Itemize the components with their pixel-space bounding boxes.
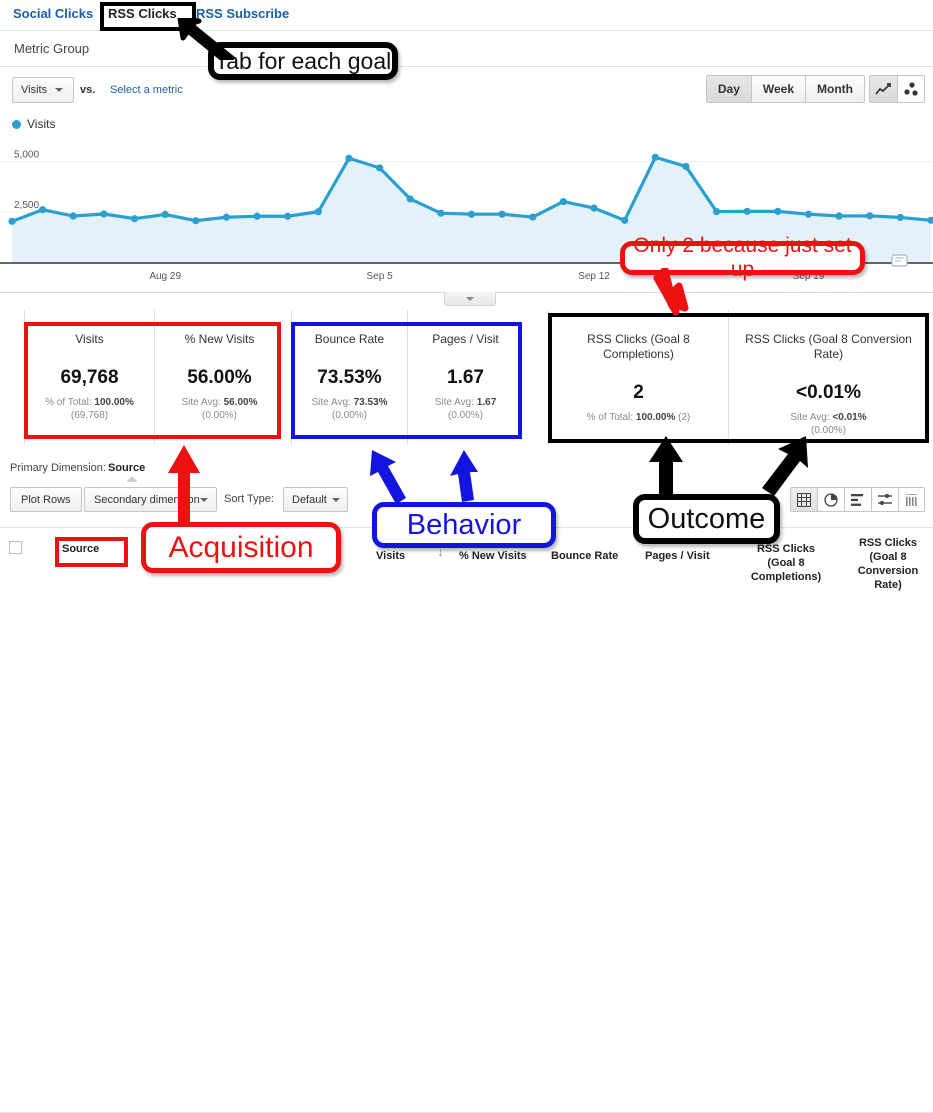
metric-card-subtext: % of Total: 100.00%(69,768) bbox=[45, 396, 134, 422]
chevron-down-icon bbox=[332, 498, 340, 502]
chevron-down-icon bbox=[200, 498, 208, 502]
arrow-down-icon: ↓ bbox=[437, 544, 444, 559]
metric-card-subtext: Site Avg: 1.67(0.00%) bbox=[435, 396, 497, 422]
chevron-down-icon bbox=[55, 88, 63, 92]
sort-type-label: Sort Type: bbox=[224, 493, 274, 505]
plot-rows-button[interactable]: Plot Rows bbox=[10, 487, 82, 512]
primary-dimension-label: Primary Dimension: bbox=[10, 462, 106, 474]
metric-card-title: RSS Clicks (Goal 8 Conversion Rate) bbox=[729, 332, 928, 362]
metric-card-rss-clicks-goal-8-completions: RSS Clicks (Goal 8 Completions)2% of Tot… bbox=[548, 310, 728, 445]
table-view-icon[interactable] bbox=[790, 487, 817, 512]
metric-card-new-visits: % New Visits56.00%Site Avg: 56.00%(0.00%… bbox=[154, 310, 284, 445]
bar-view-icon[interactable] bbox=[844, 487, 871, 512]
metric-summary-row: Visits69,768% of Total: 100.00%(69,768)%… bbox=[0, 310, 933, 445]
svg-text:Sep 5: Sep 5 bbox=[367, 271, 394, 282]
sort-type-value: Default bbox=[292, 494, 327, 506]
primary-dimension-row: Primary Dimension: Source bbox=[0, 458, 933, 484]
metric-card-value: 1.67 bbox=[447, 367, 484, 389]
select-all-checkbox[interactable] bbox=[9, 541, 22, 554]
vs-label: vs. bbox=[80, 84, 95, 96]
primary-dimension-pointer-icon bbox=[126, 476, 138, 482]
metric-select[interactable]: Visits bbox=[12, 77, 74, 103]
metric-card-visits: Visits69,768% of Total: 100.00%(69,768) bbox=[24, 310, 154, 445]
secondary-dimension-label: Secondary dimension bbox=[94, 494, 200, 506]
column-header-bounce-rate[interactable]: Bounce Rate bbox=[551, 549, 618, 563]
chevron-down-icon bbox=[466, 297, 474, 301]
metric-card-value: 2 bbox=[633, 382, 644, 404]
primary-dimension-value[interactable]: Source bbox=[108, 462, 145, 474]
pivot-view-icon[interactable] bbox=[898, 487, 925, 512]
granularity-month-button[interactable]: Month bbox=[805, 75, 865, 103]
annotation-speech-icon bbox=[892, 255, 907, 266]
tab-rss-clicks[interactable]: RSS Clicks bbox=[108, 6, 177, 21]
chart-svg[interactable]: 2,5005,000Aug 29Sep 5Sep 12Sep 19 bbox=[0, 135, 933, 293]
chart-legend: Visits bbox=[12, 117, 55, 131]
metric-card-value: <0.01% bbox=[796, 382, 861, 404]
pie-view-icon[interactable] bbox=[817, 487, 844, 512]
metric-group-row: Metric Group bbox=[0, 31, 933, 67]
chart-controls-row: Visits vs. Select a metric Day Week Mont… bbox=[0, 67, 933, 113]
metric-card-value: 73.53% bbox=[317, 367, 381, 389]
sort-type-select[interactable]: Default bbox=[283, 487, 348, 512]
visits-timeline-chart: Visits 2,5005,000Aug 29Sep 5Sep 12Sep 19 bbox=[0, 113, 933, 293]
metric-card-title: % New Visits bbox=[179, 332, 261, 347]
svg-text:2,500: 2,500 bbox=[14, 200, 39, 211]
goal-tab-strip: Social Clicks RSS Clicks RSS Subscribe bbox=[0, 0, 933, 31]
metric-card-rss-clicks-goal-8-conversion-rate: RSS Clicks (Goal 8 Conversion Rate)<0.01… bbox=[728, 310, 928, 445]
tab-social-clicks[interactable]: Social Clicks bbox=[13, 6, 93, 21]
granularity-button-group: Day Week Month bbox=[706, 75, 865, 103]
metric-card-subtext: Site Avg: 56.00%(0.00%) bbox=[182, 396, 258, 422]
metric-card-title: Visits bbox=[69, 332, 109, 347]
metric-select-label: Visits bbox=[21, 84, 47, 96]
report-table-header: Source Visits ↓ % New Visits Bounce Rate… bbox=[0, 527, 933, 591]
line-chart-icon[interactable] bbox=[869, 75, 897, 103]
metric-card-title: RSS Clicks (Goal 8 Completions) bbox=[549, 332, 728, 362]
granularity-day-button[interactable]: Day bbox=[706, 75, 751, 103]
column-header-source[interactable]: Source bbox=[62, 542, 99, 556]
comparison-view-icon[interactable] bbox=[871, 487, 898, 512]
metric-card-subtext: % of Total: 100.00% (2) bbox=[587, 411, 691, 424]
tab-rss-subscribe[interactable]: RSS Subscribe bbox=[196, 6, 289, 21]
legend-color-swatch bbox=[12, 120, 21, 129]
column-header-pages-per-visit[interactable]: Pages / Visit bbox=[645, 549, 710, 563]
metric-card-subtext: Site Avg: 73.53%(0.00%) bbox=[312, 396, 388, 422]
goal8-completions-line-1: RSS Clicks bbox=[740, 542, 832, 556]
metric-group-label: Metric Group bbox=[14, 41, 89, 56]
goal8-rate-line-4: Rate) bbox=[848, 578, 928, 592]
scatter-chart-icon[interactable] bbox=[897, 75, 925, 103]
secondary-dimension-select[interactable]: Secondary dimension bbox=[84, 487, 217, 512]
column-header-visits[interactable]: Visits bbox=[376, 549, 405, 563]
granularity-week-button[interactable]: Week bbox=[751, 75, 805, 103]
goal8-rate-line-1: RSS Clicks bbox=[848, 536, 928, 550]
metric-card-title: Bounce Rate bbox=[309, 332, 390, 347]
legend-label-visits: Visits bbox=[27, 117, 55, 131]
svg-text:Aug 29: Aug 29 bbox=[149, 271, 181, 282]
svg-text:Sep 12: Sep 12 bbox=[578, 271, 610, 282]
goal8-rate-line-2: (Goal 8 bbox=[848, 550, 928, 564]
select-a-metric-link[interactable]: Select a metric bbox=[110, 84, 183, 96]
column-header-new-visits[interactable]: % New Visits bbox=[459, 549, 527, 563]
column-header-goal8-completions[interactable]: RSS Clicks (Goal 8 Completions) bbox=[740, 542, 832, 584]
chart-type-button-group bbox=[869, 75, 925, 103]
metric-card-bounce-rate: Bounce Rate73.53%Site Avg: 73.53%(0.00%) bbox=[291, 310, 407, 445]
goal8-completions-line-2: (Goal 8 bbox=[740, 556, 832, 570]
svg-text:5,000: 5,000 bbox=[14, 149, 39, 160]
table-toolbar: Plot Rows Secondary dimension Sort Type:… bbox=[0, 487, 933, 521]
metric-card-subtext: Site Avg: <0.01%(0.00%) bbox=[790, 411, 866, 437]
view-mode-button-group bbox=[790, 487, 925, 512]
collapse-chart-handle[interactable] bbox=[444, 292, 496, 306]
metric-card-pages-visit: Pages / Visit1.67Site Avg: 1.67(0.00%) bbox=[407, 310, 523, 445]
column-header-goal8-conversion-rate[interactable]: RSS Clicks (Goal 8 Conversion Rate) bbox=[848, 536, 928, 592]
metric-card-title: Pages / Visit bbox=[426, 332, 504, 347]
goal8-rate-line-3: Conversion bbox=[848, 564, 928, 578]
metric-card-value: 56.00% bbox=[187, 367, 251, 389]
metric-card-value: 69,768 bbox=[60, 367, 118, 389]
goal8-completions-line-3: Completions) bbox=[740, 570, 832, 584]
svg-text:Sep 19: Sep 19 bbox=[793, 271, 825, 282]
